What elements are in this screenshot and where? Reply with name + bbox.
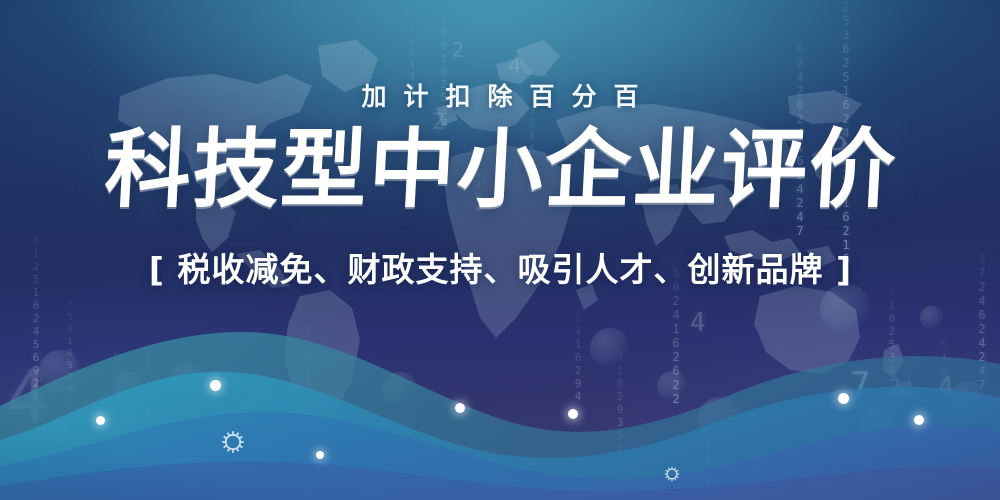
banner-title: 科技型中小企业评价 [0, 122, 1000, 218]
floating-digit: 4 [508, 56, 521, 78]
glow-dot [568, 409, 578, 419]
glow-dot [316, 451, 324, 459]
hero-banner: 4125162456920752169342947162538012416694… [0, 0, 1000, 500]
glow-dot [210, 380, 221, 391]
gear-ring-icon [664, 466, 680, 482]
glow-dot [96, 416, 105, 425]
floating-digit: 2 [452, 40, 464, 60]
layered-waves [0, 310, 1000, 500]
glow-dot [914, 415, 924, 425]
glow-dot [838, 393, 849, 404]
glow-dot [455, 403, 465, 413]
gear-ring-icon [221, 430, 245, 454]
banner-subtitle: [ 税收减免、财政支持、吸引人才、创新品牌 ] [0, 248, 1000, 292]
banner-eyebrow: 加计扣除百分百 [0, 82, 1000, 112]
